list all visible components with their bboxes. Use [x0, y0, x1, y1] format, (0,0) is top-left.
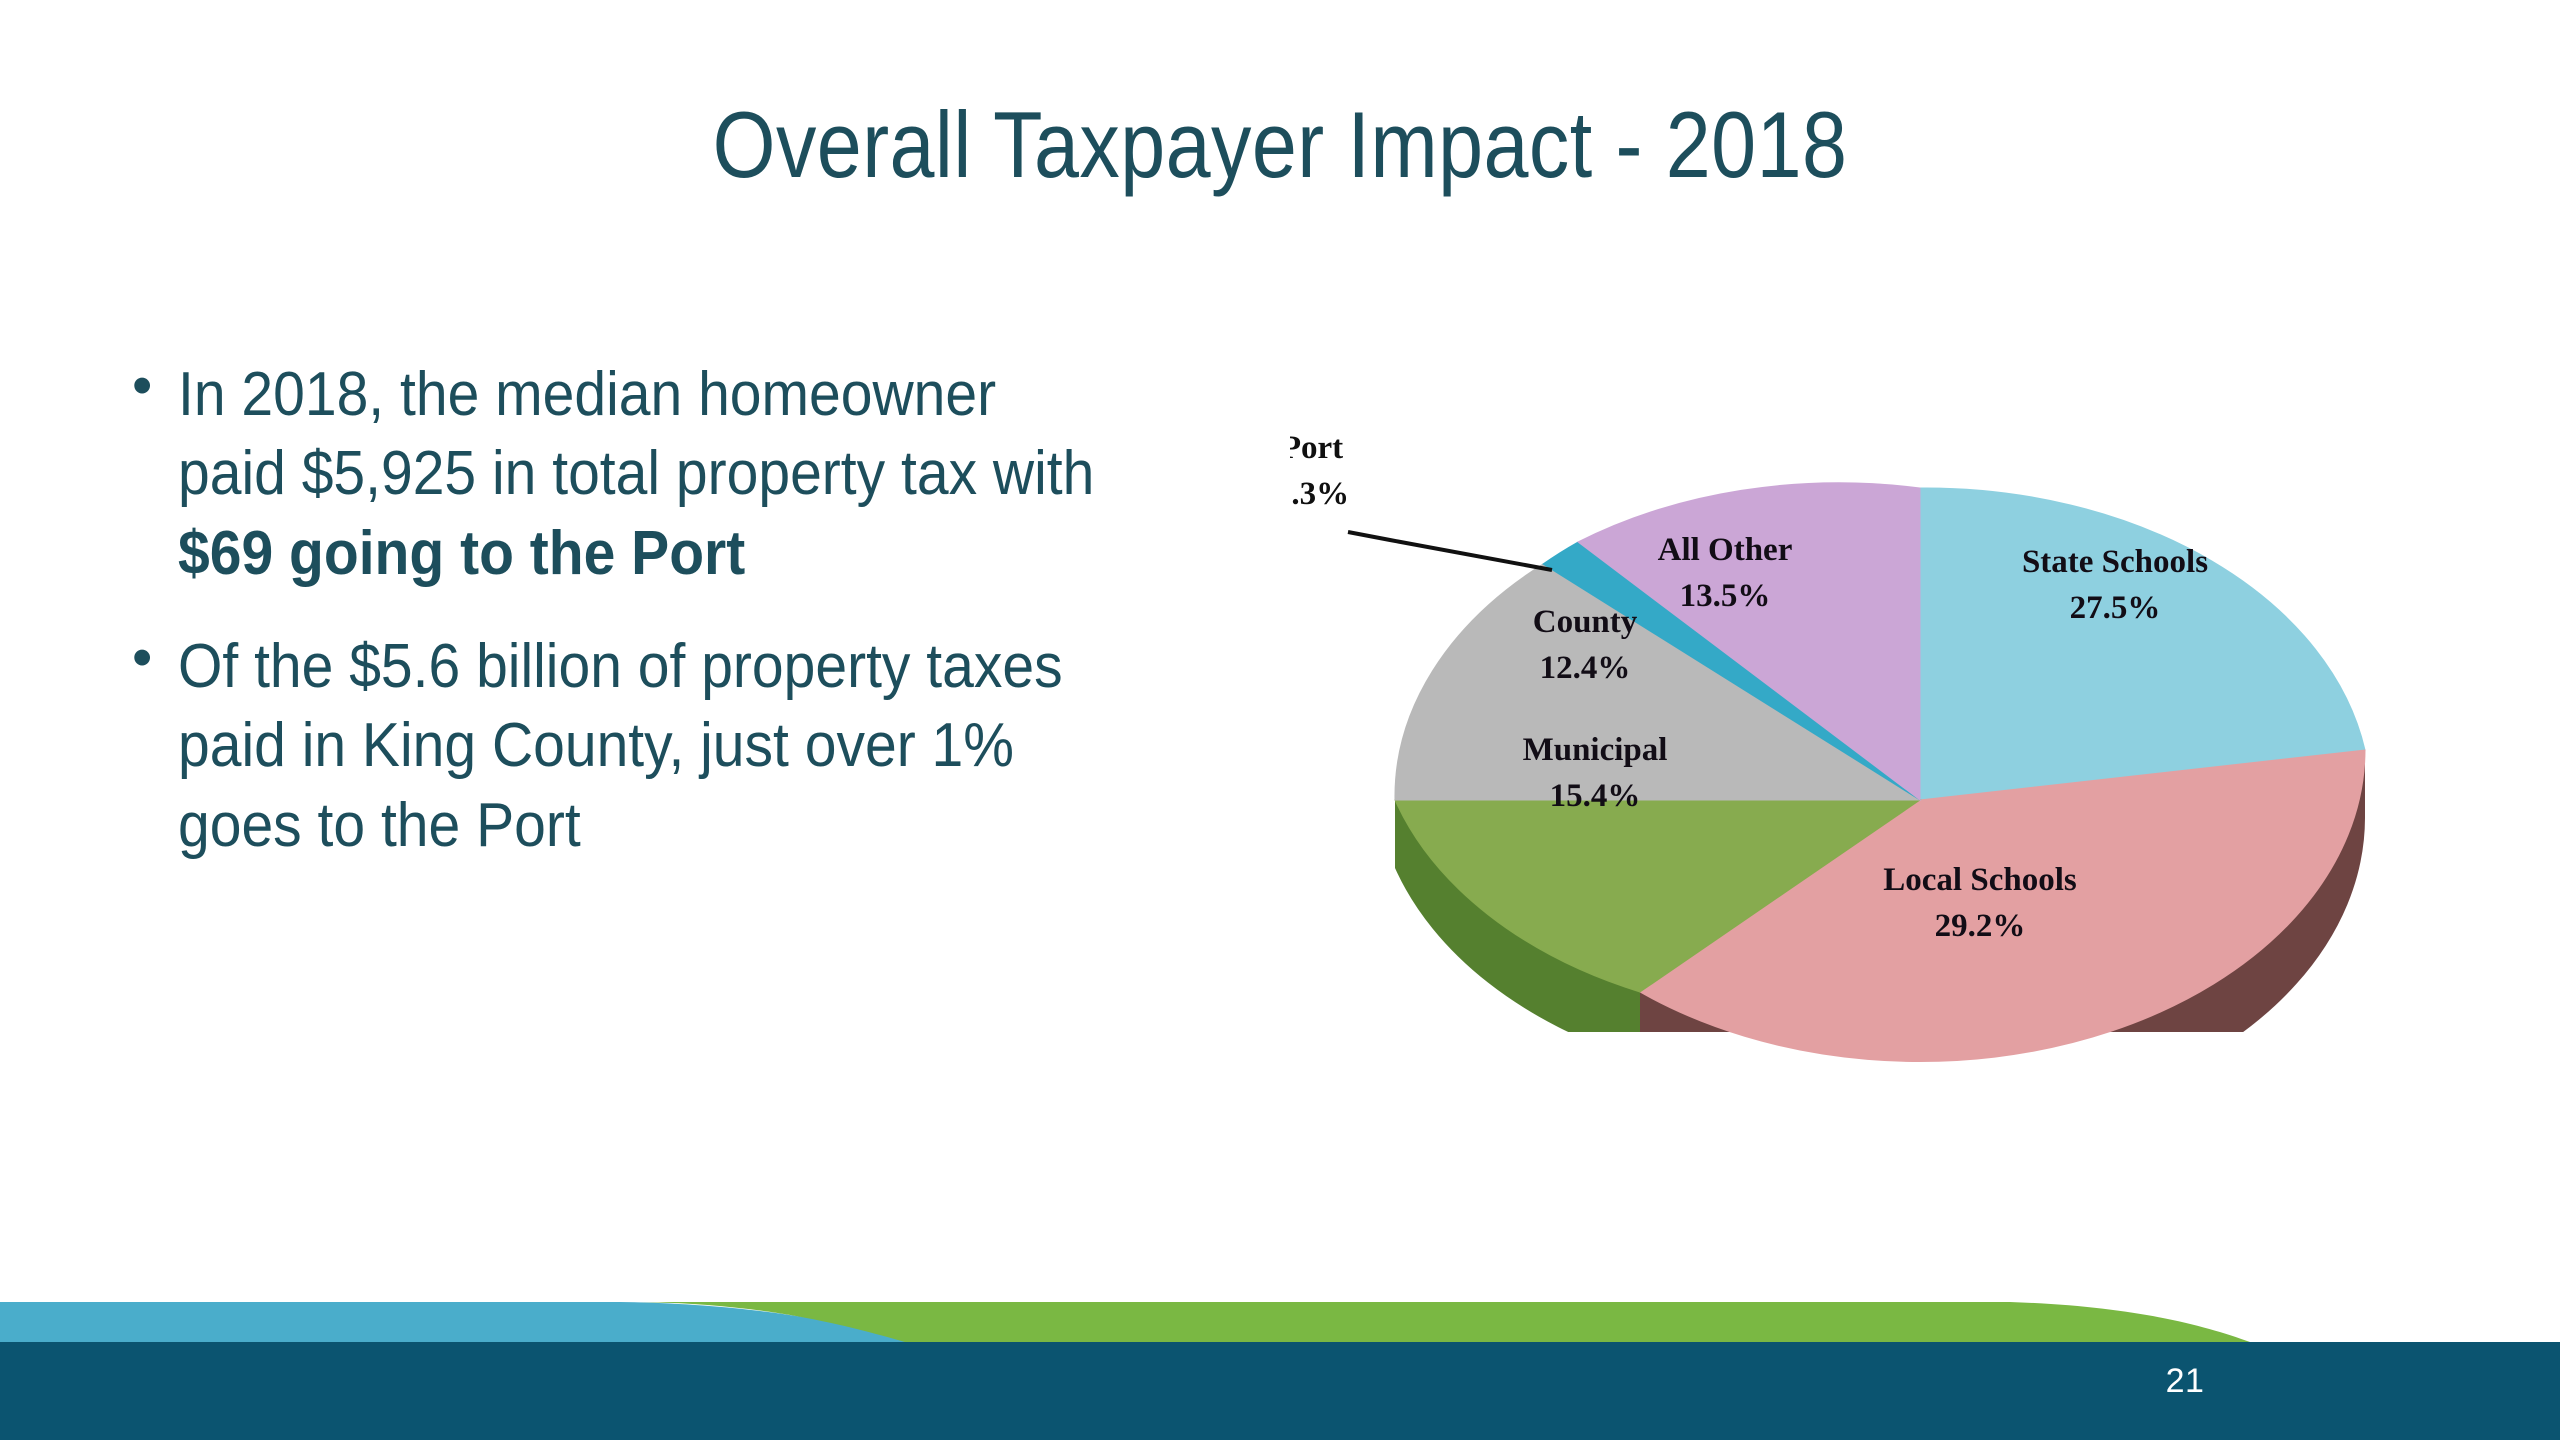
- page-title: Overall Taxpayer Impact - 2018: [179, 96, 2381, 195]
- pie-label-all-other-percent: 13.5%: [1680, 578, 1771, 614]
- bullet-2-lead: Of the $5.6 billion of property taxes pa…: [178, 632, 1063, 860]
- bullet-1-emphasis: $69 going to the Port: [178, 519, 745, 588]
- pie-label-state-schools-percent: 27.5%: [2070, 590, 2161, 626]
- slide-canvas: Overall Taxpayer Impact - 2018 • In 2018…: [0, 0, 2560, 1440]
- pie-slice-state-schools: [1920, 488, 2365, 800]
- bullet-marker-icon: •: [120, 355, 178, 418]
- pie-label-all-other-name: All Other: [1658, 532, 1793, 568]
- pie-label-municipal-percent: 15.4%: [1550, 778, 1641, 814]
- pie-label-port-name: Port: [1290, 430, 1343, 466]
- footer-decoration: [0, 1280, 2560, 1440]
- bullet-text-1: In 2018, the median homeowner paid $5,92…: [178, 355, 1118, 593]
- bullet-list: • In 2018, the median homeowner paid $5,…: [120, 355, 1200, 899]
- port-leader-line: [1348, 532, 1552, 570]
- list-item: • Of the $5.6 billion of property taxes …: [120, 627, 1200, 865]
- pie-label-local-schools-name: Local Schools: [1883, 862, 2077, 898]
- pie-label-local-schools-percent: 29.2%: [1935, 908, 2026, 944]
- pie-label-county-percent: 12.4%: [1540, 650, 1631, 686]
- pie-label-municipal-name: Municipal: [1523, 732, 1668, 768]
- slide-number: 21: [2140, 1362, 2230, 1401]
- pie-label-port-percent: 1.3%: [1290, 476, 1349, 512]
- bullet-1-lead: In 2018, the median homeowner paid $5,92…: [178, 360, 1094, 508]
- bullet-text-2: Of the $5.6 billion of property taxes pa…: [178, 627, 1118, 865]
- bullet-marker-icon: •: [120, 627, 178, 690]
- pie-label-state-schools-name: State Schools: [2022, 544, 2208, 580]
- list-item: • In 2018, the median homeowner paid $5,…: [120, 355, 1200, 593]
- pie-chart: Port 1.3% All Other 13.5% County 12.4% M…: [1290, 420, 2420, 1120]
- pie-label-county-name: County: [1533, 604, 1638, 640]
